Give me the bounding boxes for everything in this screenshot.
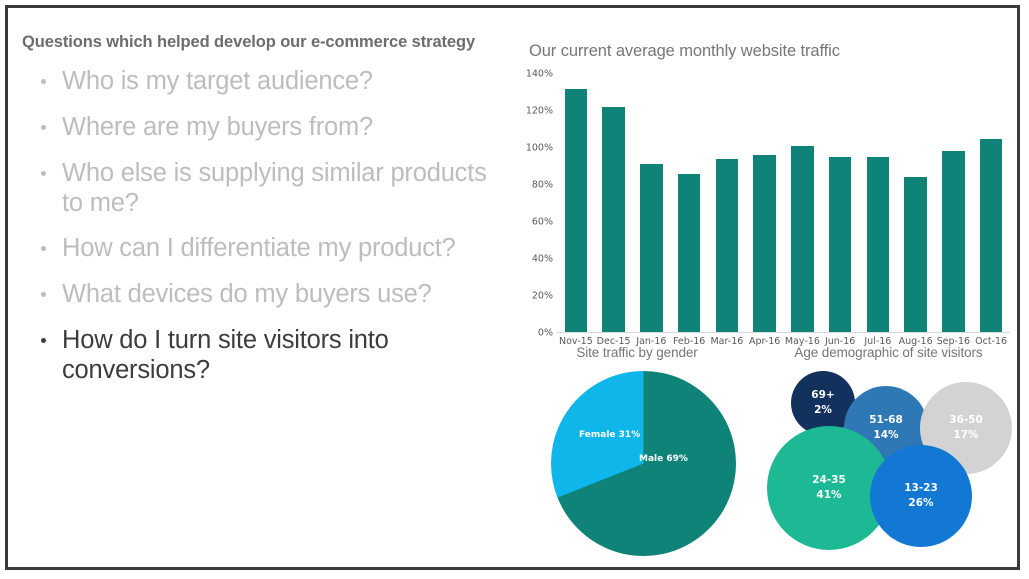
bar-Jun-16 [829,157,852,332]
bar-chart-title: Our current average monthly website traf… [529,42,840,61]
charts-panel: Our current average monthly website traf… [513,28,1018,568]
pie-slice-value-female: 31% [619,430,641,440]
question-bullet-2: Who else is supplying similar products t… [22,159,509,219]
bar-slot [670,74,708,332]
bar-Apr-16 [753,155,776,332]
bubble-13-23: 13-2326% [870,445,972,547]
monthly-traffic-bar-chart: Our current average monthly website traf… [513,28,1018,333]
bar-Aug-16 [904,177,927,332]
questions-bullet-list: Who is my target audience?Where are my b… [22,67,509,386]
bar-May-16 [791,146,814,332]
age-demographic-bubble-chart: Age demographic of site visitors 69+2%51… [761,343,1016,571]
bar-chart-y-tick: 100% [526,143,553,154]
slide-canvas: Questions which helped develop our e-com… [8,8,1017,567]
bullet-dot-icon [41,79,46,84]
bar-Mar-16 [716,159,739,332]
bar-slot [746,74,784,332]
bar-slot [897,74,935,332]
bar-chart-y-tick: 120% [526,106,553,117]
question-bullet-label: How can I differentiate my product? [62,234,456,262]
question-bullet-3: How can I differentiate my product? [22,234,509,264]
bullet-dot-icon [41,171,46,176]
pie-slice-label-male: Male 69% [639,453,688,465]
question-bullet-label: Who else is supplying similar products t… [62,159,487,217]
question-bullet-label: How do I turn site visitors into convers… [62,326,389,384]
bar-chart-y-tick: 60% [532,217,553,228]
bar-chart-y-tick: 80% [532,180,553,191]
slide-frame: Questions which helped develop our e-com… [5,5,1020,570]
question-bullet-4: What devices do my buyers use? [22,280,509,310]
bar-Jan-16 [640,164,663,332]
pie-slice-name-female: Female [579,430,616,440]
pie-slice-label-female: Female 31% [579,429,640,441]
bubble-label: 24-35 [812,473,846,488]
bar-chart-y-tick: 40% [532,254,553,265]
bar-Sep-16 [942,151,965,332]
bar-Jul-16 [867,157,890,332]
bar-Feb-16 [678,174,701,332]
pie-slice-value-male: 69% [666,454,688,464]
bubble-label: 69+ [811,388,834,403]
bar-chart-y-tick: 140% [526,69,553,80]
bubble-value: 41% [816,488,841,503]
bar-slot [859,74,897,332]
bullet-dot-icon [41,338,46,343]
bubble-value: 2% [814,403,832,418]
bar-slot [935,74,973,332]
gender-pie-chart: Site traffic by gender Male 69% Female 3… [521,343,753,568]
question-bullet-label: Where are my buyers from? [62,113,373,141]
bullet-dot-icon [41,292,46,297]
question-bullet-label: What devices do my buyers use? [62,280,432,308]
bar-slot [633,74,671,332]
bubble-plot-area: 69+2%51-6814%36-5017%24-3541%13-2326% [761,343,1016,571]
bar-slot [708,74,746,332]
pie-slice-name-male: Male [639,454,663,464]
bar-Oct-16 [980,139,1003,333]
question-bullet-0: Who is my target audience? [22,67,509,97]
bubble-value: 14% [873,428,898,443]
bubble-value: 17% [953,428,978,443]
question-bullet-label: Who is my target audience? [62,67,373,95]
bubble-label: 51-68 [869,413,903,428]
bar-Nov-15 [565,89,588,332]
bar-chart-y-tick: 0% [538,328,553,339]
bubble-label: 36-50 [949,413,983,428]
bullet-dot-icon [41,125,46,130]
bubble-label: 13-23 [904,481,938,496]
questions-panel: Questions which helped develop our e-com… [22,32,509,552]
bubble-value: 26% [908,496,933,511]
bar-Dec-15 [602,107,625,332]
question-bullet-5: How do I turn site visitors into convers… [22,326,509,386]
bar-slot [784,74,822,332]
question-bullet-1: Where are my buyers from? [22,113,509,143]
bar-chart-y-axis: 140%120%100%80%60%40%20%0% [513,74,553,333]
pie-chart-title: Site traffic by gender [521,345,753,360]
bar-slot [557,74,595,332]
bar-slot [595,74,633,332]
bar-chart-plot-area [557,74,1010,333]
bullet-dot-icon [41,246,46,251]
bar-slot [972,74,1010,332]
bar-slot [821,74,859,332]
bar-chart-y-tick: 20% [532,291,553,302]
questions-heading: Questions which helped develop our e-com… [22,32,492,53]
